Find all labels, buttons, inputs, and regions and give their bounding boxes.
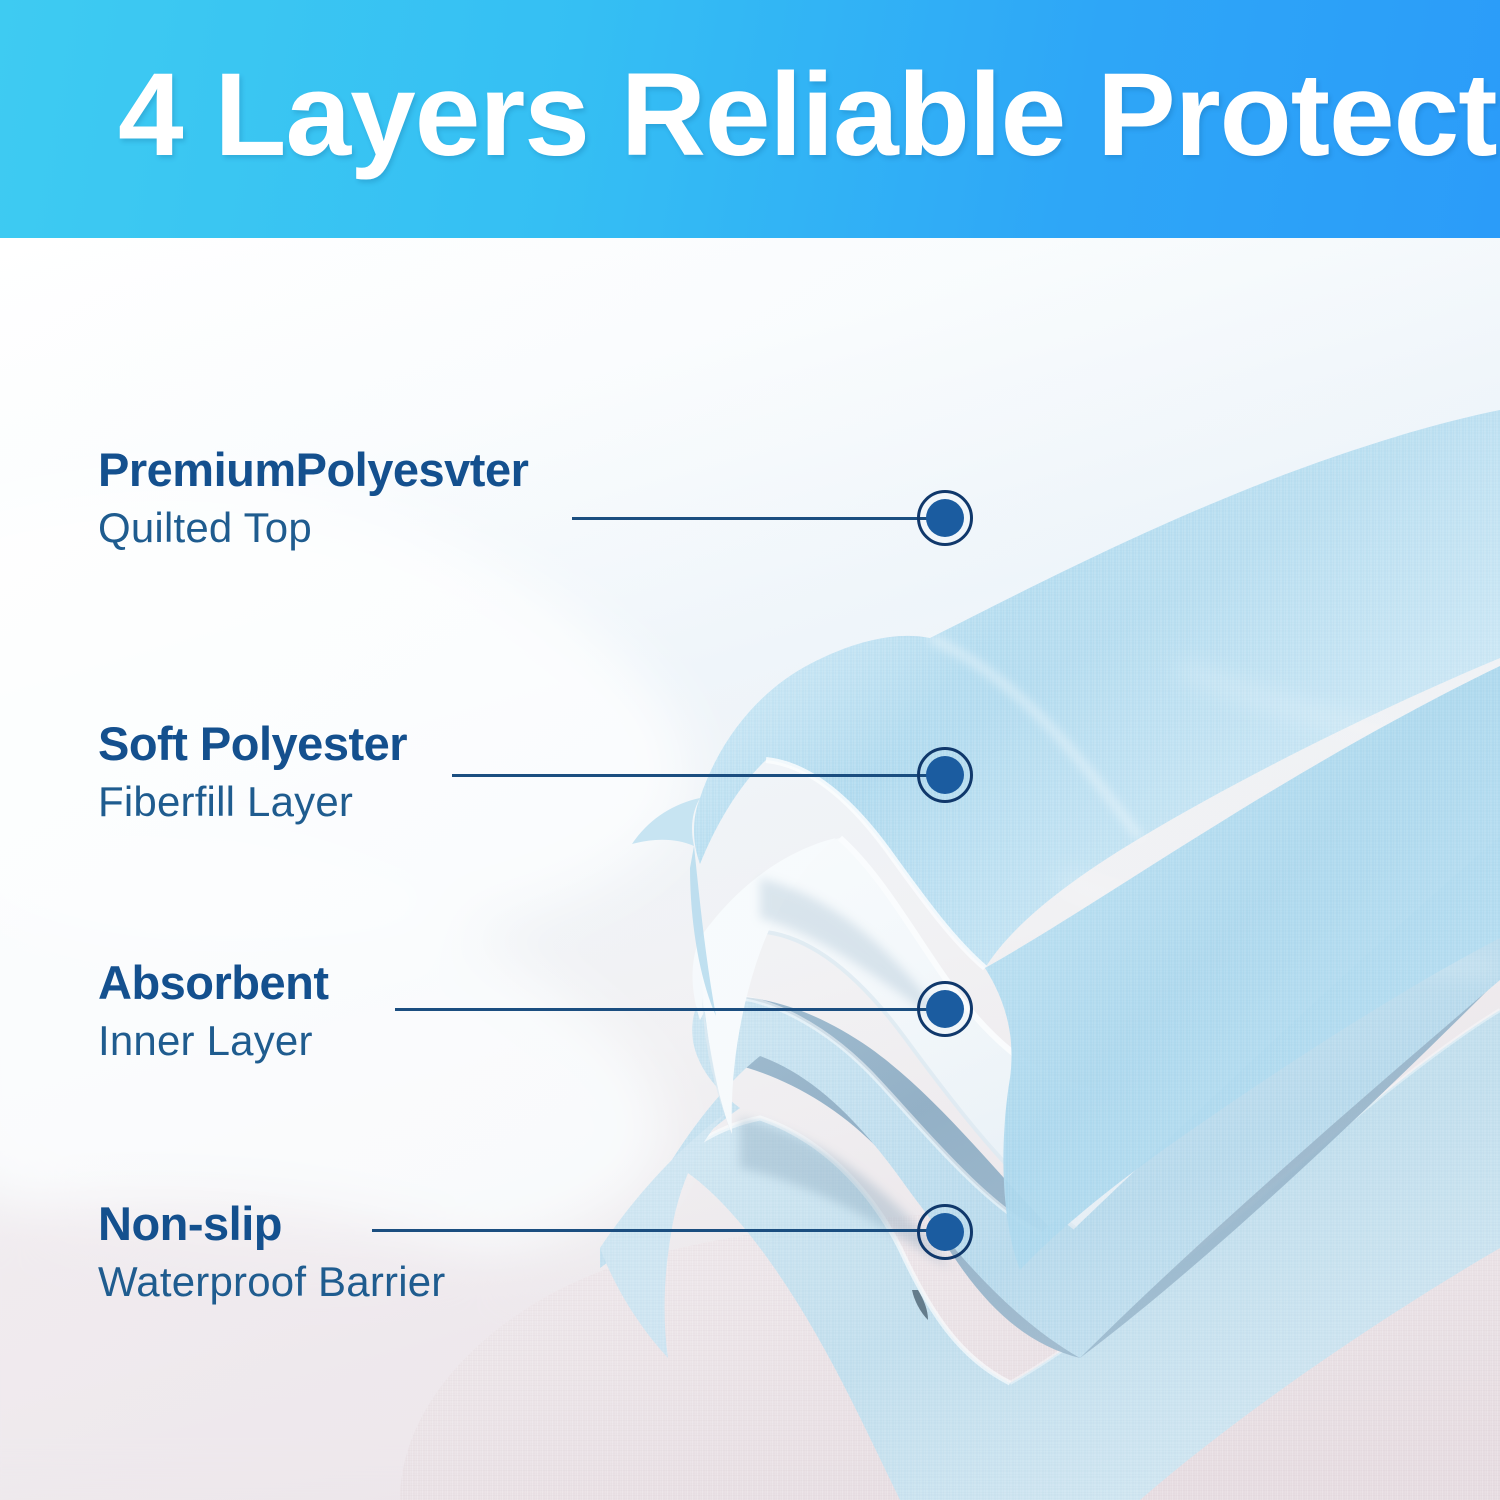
callout-subtitle: Quilted Top (98, 504, 312, 552)
fabric-layers-photo (0, 238, 1500, 1500)
callout-title: Absorbent (98, 955, 329, 1010)
callout-subtitle: Waterproof Barrier (98, 1258, 445, 1306)
photo-soft-overlay (0, 238, 1500, 1500)
fabric-illustration (0, 238, 1500, 1500)
banner-title: 4 Layers Reliable Protection (118, 50, 1500, 180)
callout-subtitle: Inner Layer (98, 1017, 313, 1065)
callout-title: Non-slip (98, 1196, 282, 1251)
header-banner: 4 Layers Reliable Protection (0, 0, 1500, 238)
product-infographic: 4 Layers Reliable Protection (0, 0, 1500, 1500)
callout-title: Soft Polyester (98, 716, 407, 771)
callout-subtitle: Fiberfill Layer (98, 778, 353, 826)
callout-title: PremiumPolyesvter (98, 442, 528, 497)
